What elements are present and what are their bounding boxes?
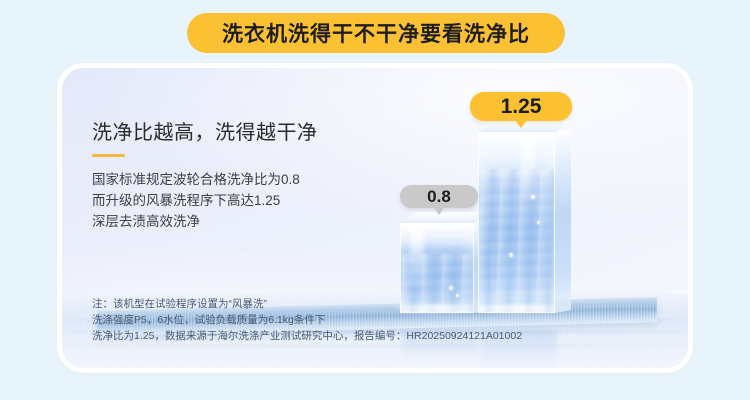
water-bubble xyxy=(537,221,540,224)
header-banner-text: 洗衣机洗得干不干净要看洗净比 xyxy=(222,18,530,48)
content-card: 0.8 1.25 洗净比越高，洗得越干净 国家标准规定波轮合格洗净比为0.8 而… xyxy=(62,68,688,368)
water-bubble xyxy=(509,253,513,257)
body-line: 国家标准规定波轮合格洗净比为0.8 xyxy=(92,169,392,190)
footnote-line: 洗净比为1.25，数据来源于海尔洗涤产业测试研究中心，报告编号：HR202509… xyxy=(92,328,652,344)
column-front-face xyxy=(478,132,555,313)
column-side-face xyxy=(555,129,571,313)
headline-underline xyxy=(92,154,125,157)
value-badge-low: 0.8 xyxy=(400,185,478,208)
value-badge-high-label: 1.25 xyxy=(501,95,542,119)
column-water xyxy=(479,169,554,312)
text-block: 洗净比越高，洗得越干净 国家标准规定波轮合格洗净比为0.8 而升级的风暴洗程序下… xyxy=(92,116,392,232)
badge-tail xyxy=(514,119,528,128)
body-line: 深层去渍高效洗净 xyxy=(92,211,392,232)
water-ripple xyxy=(62,345,688,347)
header-banner: 洗衣机洗得干不干净要看洗净比 xyxy=(187,13,565,53)
water-bubble xyxy=(531,195,535,199)
bar-column-high xyxy=(478,132,555,313)
footnote: 注：该机型在试验程序设置为“风暴洗” 洗涤强度P5，6水位，试验负载质量为6.1… xyxy=(92,296,652,344)
water-bubble xyxy=(449,286,453,290)
headline: 洗净比越高，洗得越干净 xyxy=(92,116,392,145)
badge-tail xyxy=(433,207,445,215)
body-text: 国家标准规定波轮合格洗净比为0.8 而升级的风暴洗程序下高达1.25 深层去渍高… xyxy=(92,169,392,232)
column-rim xyxy=(479,133,554,136)
column-highlight xyxy=(410,228,424,286)
column-highlight xyxy=(521,137,535,201)
footnote-line: 洗涤强度P5，6水位，试验负载质量为6.1kg条件下 xyxy=(92,312,652,328)
footnote-line: 注：该机型在试验程序设置为“风暴洗” xyxy=(92,296,652,312)
value-badge-low-label: 0.8 xyxy=(427,187,451,207)
body-line: 而升级的风暴洗程序下高达1.25 xyxy=(92,190,392,211)
value-badge-high: 1.25 xyxy=(470,92,572,121)
